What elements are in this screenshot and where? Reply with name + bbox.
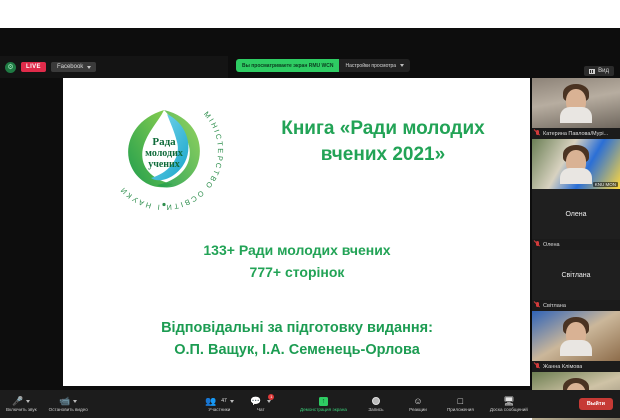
participant-video-tile[interactable]: KNU MON <box>532 139 620 189</box>
chevron-down-icon[interactable] <box>73 400 77 403</box>
participant-name-row: Жанна Клімова <box>532 361 620 372</box>
avatar-face <box>566 150 586 174</box>
participant-name-row: Світлана <box>532 300 620 311</box>
whiteboard-icon: 🖥 <box>503 396 514 406</box>
camera-icon: 📹 <box>59 396 77 406</box>
participant-name: Катерина Павлова/Мурі... <box>543 131 608 137</box>
participant-video-tile[interactable] <box>532 311 620 361</box>
stream-platform-label: Facebook <box>57 64 83 70</box>
view-layout-label: Вид <box>598 68 609 74</box>
view-options-button[interactable]: Настройки просмотра <box>339 59 410 72</box>
slide-stats: 133+ Ради молодих вчених 777+ сторінок <box>97 240 497 283</box>
slide-title: Книга «Ради молодих вчених 2021» <box>243 116 523 167</box>
page-top-margin <box>0 0 620 28</box>
zoom-meeting-screenshot: ⚙ LIVE Facebook Вы просматриваете экран … <box>0 0 620 420</box>
participant-display-name: Олена <box>565 211 586 218</box>
participants-count: 47 <box>221 399 227 404</box>
slide-stat-pages: 777+ сторінок <box>97 262 497 284</box>
zoom-meeting-window: ⚙ LIVE Facebook Вы просматриваете экран … <box>0 28 620 390</box>
share-screen-button[interactable]: ↑ Демонстрация экрана <box>300 396 347 412</box>
microphone-muted-icon: 🎤 <box>12 396 30 406</box>
microphone-muted-icon <box>535 302 540 309</box>
meeting-toolbar[interactable]: 🎤 Включить звук 📹 Остановить видео 👥47 <box>0 390 620 418</box>
svg-text:Рада: Рада <box>152 136 176 148</box>
participant-video-tile[interactable] <box>532 78 620 128</box>
apps-icon: □ <box>458 396 463 406</box>
toolbar-left-group: 🎤 Включить звук 📹 Остановить видео <box>0 396 88 412</box>
avatar-face <box>566 322 586 346</box>
participant-name: Світлана <box>543 303 566 309</box>
view-layout-button[interactable]: Вид <box>584 66 614 76</box>
reactions-button[interactable]: ☺ Реакции <box>405 396 431 412</box>
shared-slide: МІНІСТЕРСТВО ОСВІТИ І НАУКИ УКРАЇНИ Рада… <box>63 78 530 386</box>
grid-view-icon <box>589 69 595 74</box>
share-screen-label: Демонстрация экрана <box>300 407 347 412</box>
reactions-icon: ☺ <box>413 396 422 406</box>
microphone-muted-icon <box>535 241 540 248</box>
whiteboard-button[interactable]: 🖥 Доска сообщений <box>490 396 528 412</box>
stop-video-label: Остановить видео <box>49 407 88 412</box>
slide-credits-heading: Відповідальні за підготовку видання: <box>87 318 507 340</box>
toolbar-center-group: 👥47 Участники 💬1 Чат <box>205 396 274 412</box>
screen-share-banner: Вы просматриваете экран RMU WCN Настройк… <box>236 59 410 72</box>
svg-text:учених: учених <box>148 159 180 170</box>
slide-title-line-1: Книга «Ради молодих <box>243 116 523 142</box>
participant-name-row: Олена <box>532 239 620 250</box>
chat-button[interactable]: 💬1 Чат <box>248 396 274 412</box>
microphone-muted-icon <box>535 130 540 137</box>
whiteboard-label: Доска сообщений <box>490 407 528 412</box>
participants-button[interactable]: 👥47 Участники <box>205 396 234 412</box>
slide-title-line-2: вчених 2021» <box>243 142 523 168</box>
unmute-button[interactable]: 🎤 Включить звук <box>6 396 37 412</box>
stream-platform-dropdown[interactable]: Facebook <box>51 62 96 72</box>
chevron-down-icon[interactable] <box>26 400 30 403</box>
logo-graphic: МІНІСТЕРСТВО ОСВІТИ І НАУКИ УКРАЇНИ Рада… <box>101 88 227 214</box>
leave-meeting-button[interactable]: Выйти <box>579 398 613 410</box>
record-button[interactable]: Запись <box>363 396 389 412</box>
unmute-label: Включить звук <box>6 407 37 412</box>
apps-label: Приложения <box>447 407 474 412</box>
participant-filmstrip[interactable]: Катерина Павлова/Мурі... KNU MON Олена О… <box>532 78 620 386</box>
participant-badge: KNU MON <box>593 182 618 187</box>
svg-text:молодих: молодих <box>145 148 183 159</box>
share-status-text: Вы просматриваете экран RMU WCN <box>236 59 339 72</box>
chevron-down-icon <box>87 66 91 69</box>
rada-molodyh-uchenyh-logo: МІНІСТЕРСТВО ОСВІТИ І НАУКИ УКРАЇНИ Рада… <box>101 88 227 214</box>
reactions-label: Реакции <box>409 407 427 412</box>
record-icon <box>372 396 380 406</box>
share-screen-icon: ↑ <box>319 396 328 406</box>
microphone-muted-icon <box>535 363 540 370</box>
slide-credits: Відповідальні за підготовку видання: О.П… <box>87 318 507 362</box>
stop-video-button[interactable]: 📹 Остановить видео <box>49 396 88 412</box>
chat-unread-badge: 1 <box>268 394 274 400</box>
participant-audio-tile[interactable]: Світлана <box>532 250 620 300</box>
chevron-down-icon[interactable] <box>230 400 234 403</box>
chat-label: Чат <box>257 407 265 412</box>
view-options-label: Настройки просмотра <box>345 63 396 69</box>
chat-bubble-icon: 💬1 <box>250 396 271 406</box>
participant-display-name: Світлана <box>561 272 590 279</box>
apps-button[interactable]: □ Приложения <box>447 396 474 412</box>
chevron-down-icon <box>400 64 404 67</box>
live-badge: LIVE <box>21 62 46 72</box>
toolbar-right-group: ↑ Демонстрация экрана Запись ☺ Реакции □… <box>300 396 528 412</box>
slide-credits-names: О.П. Ващук, І.А. Семенець-Орлова <box>87 340 507 362</box>
participants-label: Участники <box>208 407 230 412</box>
participant-name-row: Катерина Павлова/Мурі... <box>532 128 620 139</box>
participant-name: Олена <box>543 242 560 248</box>
participant-audio-tile[interactable]: Олена <box>532 189 620 239</box>
avatar-face <box>566 89 586 113</box>
gear-icon[interactable]: ⚙ <box>5 62 16 73</box>
people-icon: 👥47 <box>205 396 234 406</box>
participant-name: Жанна Клімова <box>543 364 582 370</box>
live-stream-bar: ⚙ LIVE Facebook <box>0 56 228 78</box>
slide-stat-councils: 133+ Ради молодих вчених <box>97 240 497 262</box>
record-label: Запись <box>368 407 383 412</box>
